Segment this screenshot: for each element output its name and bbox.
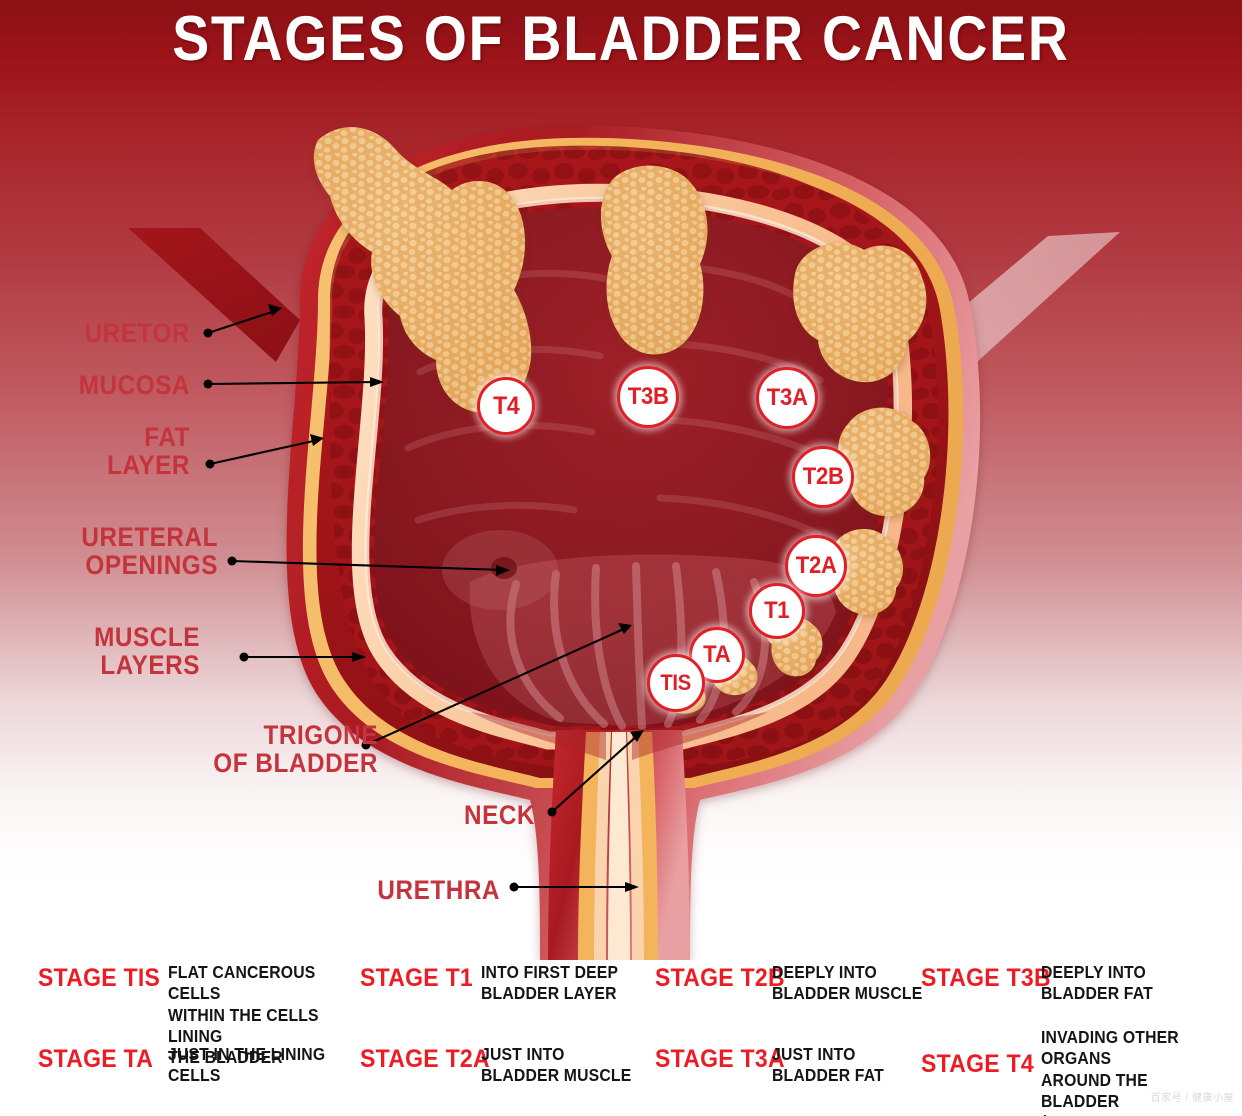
stage-marker-t3a-label: T3A — [767, 384, 808, 412]
stage-marker-t1[interactable]: T1 — [749, 583, 805, 639]
legend-desc-t1: INTO FIRST DEEP BLADDER LAYER — [481, 962, 643, 1005]
legend-desc-t3a: JUST INTO BLADDER FAT — [772, 1044, 934, 1087]
legend-stage-t3b: STAGE T3B — [921, 964, 1051, 993]
label-muscle-layers: MUSCLE LAYERS — [20, 624, 200, 679]
stage-marker-t1-label: T1 — [764, 597, 789, 625]
label-trigone-of-bladder: TRIGONE OF BLADDER — [38, 722, 378, 777]
legend-stage-tis: STAGE TIS — [38, 964, 160, 993]
legend-desc-t2b: DEEPLY INTO BLADDER MUSCLE — [772, 962, 934, 1005]
legend-desc-t2a: JUST INTO BLADDER MUSCLE — [481, 1044, 643, 1087]
legend-stage-ta: STAGE TA — [38, 1045, 153, 1074]
stage-marker-t4-label: T4 — [493, 392, 519, 421]
stage-marker-t2a[interactable]: T2A — [785, 535, 847, 597]
stage-marker-t4[interactable]: T4 — [477, 377, 535, 435]
label-mucosa: MUCOSA — [19, 372, 190, 400]
legend-stage-t3a: STAGE T3A — [655, 1045, 785, 1074]
label-neck: NECK — [54, 802, 536, 830]
stage-marker-tis[interactable]: TIS — [647, 654, 705, 712]
tumor-t3b — [601, 166, 707, 355]
label-uretor: URETOR — [19, 320, 190, 348]
stage-marker-t3b-label: T3B — [628, 383, 669, 411]
stage-marker-ta-label: TA — [703, 641, 730, 669]
stage-marker-tis-label: TIS — [661, 670, 692, 696]
legend-desc-t3b: DEEPLY INTO BLADDER FAT — [1041, 962, 1221, 1005]
label-ureteral-openings: URETERAL OPENINGS — [22, 524, 218, 579]
stage-marker-t3b[interactable]: T3B — [617, 366, 679, 428]
legend-stage-t1: STAGE T1 — [360, 964, 473, 993]
stage-marker-t3a[interactable]: T3A — [756, 367, 818, 429]
stage-marker-t2b-label: T2B — [803, 463, 844, 491]
legend-stage-t2b: STAGE T2B — [655, 964, 785, 993]
infographic-canvas: STAGES OF BLADDER CANCER — [0, 0, 1242, 1116]
stage-marker-t2b[interactable]: T2B — [792, 446, 854, 508]
label-urethra: URETHRA — [50, 877, 500, 905]
legend-desc-ta: JUST IN THE LINING CELLS — [168, 1044, 348, 1087]
stage-legend: STAGE TIS FLAT CANCEROUS CELLS WITHIN TH… — [0, 950, 1242, 1110]
watermark: 百家号 / 健康小屋 — [1151, 1089, 1234, 1104]
legend-stage-t4: STAGE T4 — [921, 1050, 1034, 1079]
label-fat-layer: FAT LAYER — [19, 424, 190, 479]
legend-stage-t2a: STAGE T2A — [360, 1045, 490, 1074]
stage-marker-t2a-label: T2A — [796, 552, 837, 580]
